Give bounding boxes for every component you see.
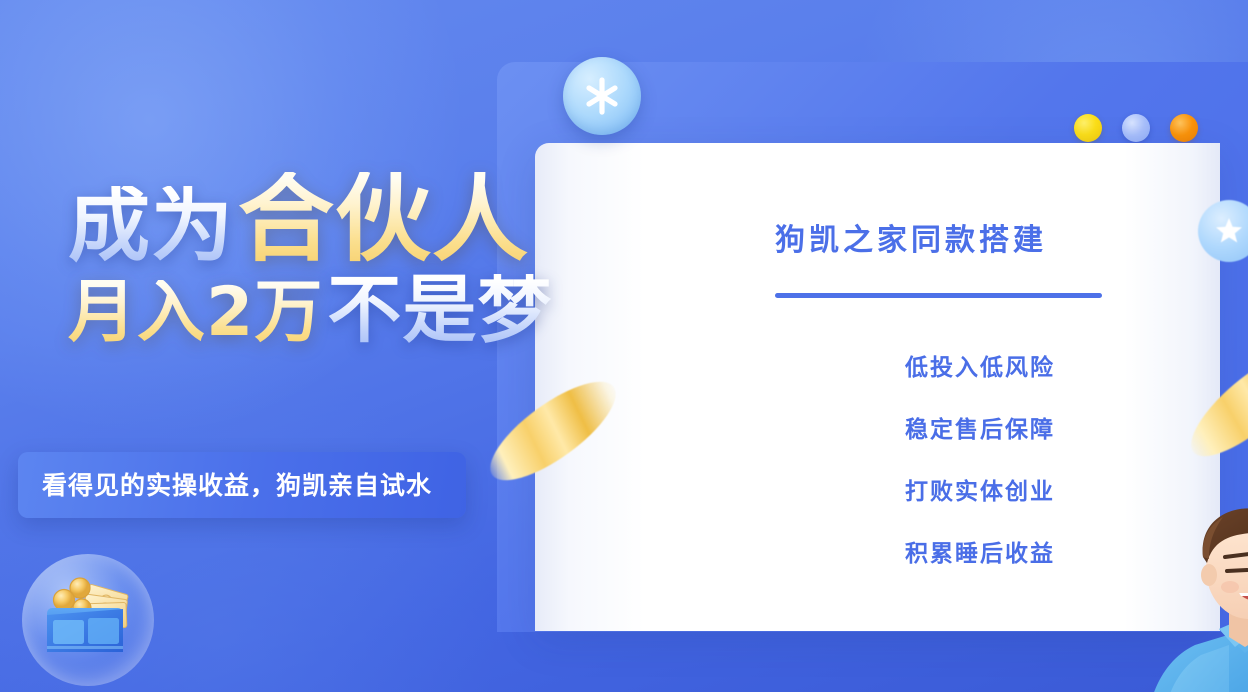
feature-item: 打败实体创业 — [905, 472, 1055, 506]
window-control-dots — [1074, 114, 1198, 142]
subtitle-bar: 看得见的实操收益，狗凯亲自试水 — [18, 452, 466, 518]
person-holding-phone-illustration — [1133, 495, 1248, 692]
headline-segment: 月入2万 — [68, 280, 323, 347]
feature-item: 低投入低风险 — [905, 348, 1055, 382]
headline: 成为 合伙人 月入2万 不是梦 — [68, 172, 552, 347]
feature-list: 低投入低风险 稳定售后保障 打败实体创业 积累睡后收益 — [905, 348, 1055, 568]
content-card: 狗凯之家同款搭建 低投入低风险 稳定售后保障 打败实体创业 积累睡后收益 — [535, 143, 1220, 631]
wallet-money-icon — [22, 554, 154, 686]
feature-item: 稳定售后保障 — [905, 410, 1055, 444]
promo-banner: 狗凯之家同款搭建 低投入低风险 稳定售后保障 打败实体创业 积累睡后收益 — [0, 0, 1248, 692]
headline-line-2: 月入2万 不是梦 — [68, 274, 552, 347]
feature-item: 积累睡后收益 — [905, 534, 1055, 568]
card-divider — [775, 293, 1102, 298]
card-title: 狗凯之家同款搭建 — [775, 215, 1047, 259]
dot-blue-icon[interactable] — [1122, 114, 1150, 142]
headline-segment: 不是梦 — [327, 274, 552, 347]
headline-segment: 合伙人 — [238, 172, 529, 266]
dot-orange-icon[interactable] — [1170, 114, 1198, 142]
subtitle-text: 看得见的实操收益，狗凯亲自试水 — [42, 466, 432, 502]
sparkle-icon — [563, 57, 641, 135]
headline-line-1: 成为 合伙人 — [68, 172, 552, 266]
dot-yellow-icon[interactable] — [1074, 114, 1102, 142]
headline-segment: 成为 — [68, 186, 234, 266]
